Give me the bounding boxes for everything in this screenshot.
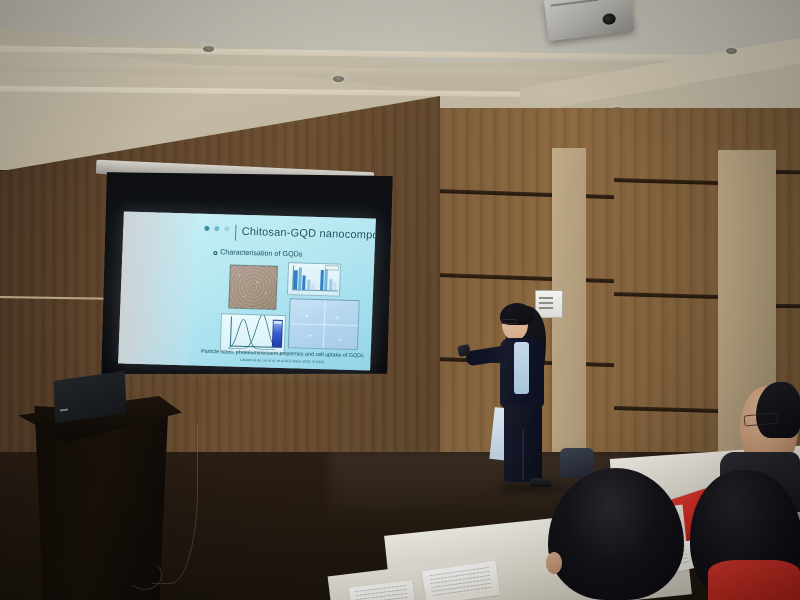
audience-member-right-hair — [756, 382, 800, 438]
presentation-slide: Chitosan-GQD nanocomposites Characterisa… — [118, 212, 376, 371]
slide-dot-2-icon — [214, 226, 219, 231]
slide-decor-dots — [204, 226, 229, 232]
chart-bar — [324, 269, 328, 290]
slide-bullet-item: Characterisation of GQDs — [213, 247, 303, 258]
slide-panel-tem-micrograph — [229, 265, 279, 310]
chart-bar — [293, 271, 297, 290]
slide-panel-fluorescence — [288, 298, 360, 350]
chart-bar — [329, 279, 333, 290]
chart-bar — [302, 276, 306, 290]
chart-bar — [333, 283, 336, 291]
audience-member-red-top — [708, 560, 800, 600]
slide-dot-1-icon — [204, 226, 209, 231]
slide-bullet-label: Characterisation of GQDs — [220, 248, 303, 259]
sign-text-line — [539, 297, 553, 299]
chart-bar — [298, 268, 302, 290]
spectra-curve-excitation — [228, 319, 276, 349]
presenter-leg-separation — [522, 430, 524, 480]
slide-projection-falloff — [118, 212, 194, 366]
slide-citation: Lalwani et al, Liu et al, et al ACS Nano… — [206, 357, 357, 365]
conference-room-photo: Chitosan-GQD nanocomposites Characterisa… — [0, 0, 800, 600]
downlight-icon — [203, 46, 214, 52]
chart-bar — [307, 280, 311, 290]
panel-groove — [434, 189, 614, 199]
downlight-icon — [333, 76, 344, 82]
chart-bar — [311, 284, 314, 290]
slide-dot-3-icon — [224, 226, 229, 231]
presenter-shirt — [514, 342, 529, 394]
projector-vent — [550, 0, 598, 7]
handout-text-lines — [355, 585, 408, 600]
panel-groove — [434, 273, 614, 283]
bullet-ring-icon — [213, 251, 217, 255]
fluo-cell-spot — [338, 338, 341, 340]
projected-image-area: Chitosan-GQD nanocomposites Characterisa… — [118, 212, 376, 371]
slide-title-rule — [235, 225, 237, 241]
downlight-icon — [726, 48, 737, 54]
audience-member-front-left-ear — [546, 552, 562, 574]
fluo-cell-spot — [336, 317, 339, 319]
fluo-cell-spot — [308, 334, 311, 336]
chart-bar — [315, 285, 318, 290]
chart-legend — [325, 265, 338, 270]
chart-bars — [293, 267, 337, 291]
gqd-vial-photo — [272, 319, 283, 348]
handout-text-lines — [430, 567, 492, 600]
presenter-shoe — [530, 478, 552, 487]
power-cable-coil — [128, 560, 162, 590]
slide-panel-bar-chart — [287, 262, 341, 297]
chart-bar — [320, 270, 324, 290]
fluo-cell-spot — [305, 314, 308, 316]
presenter-glasses-icon — [501, 319, 517, 324]
slide-title: Chitosan-GQD nanocomposites — [241, 226, 375, 242]
